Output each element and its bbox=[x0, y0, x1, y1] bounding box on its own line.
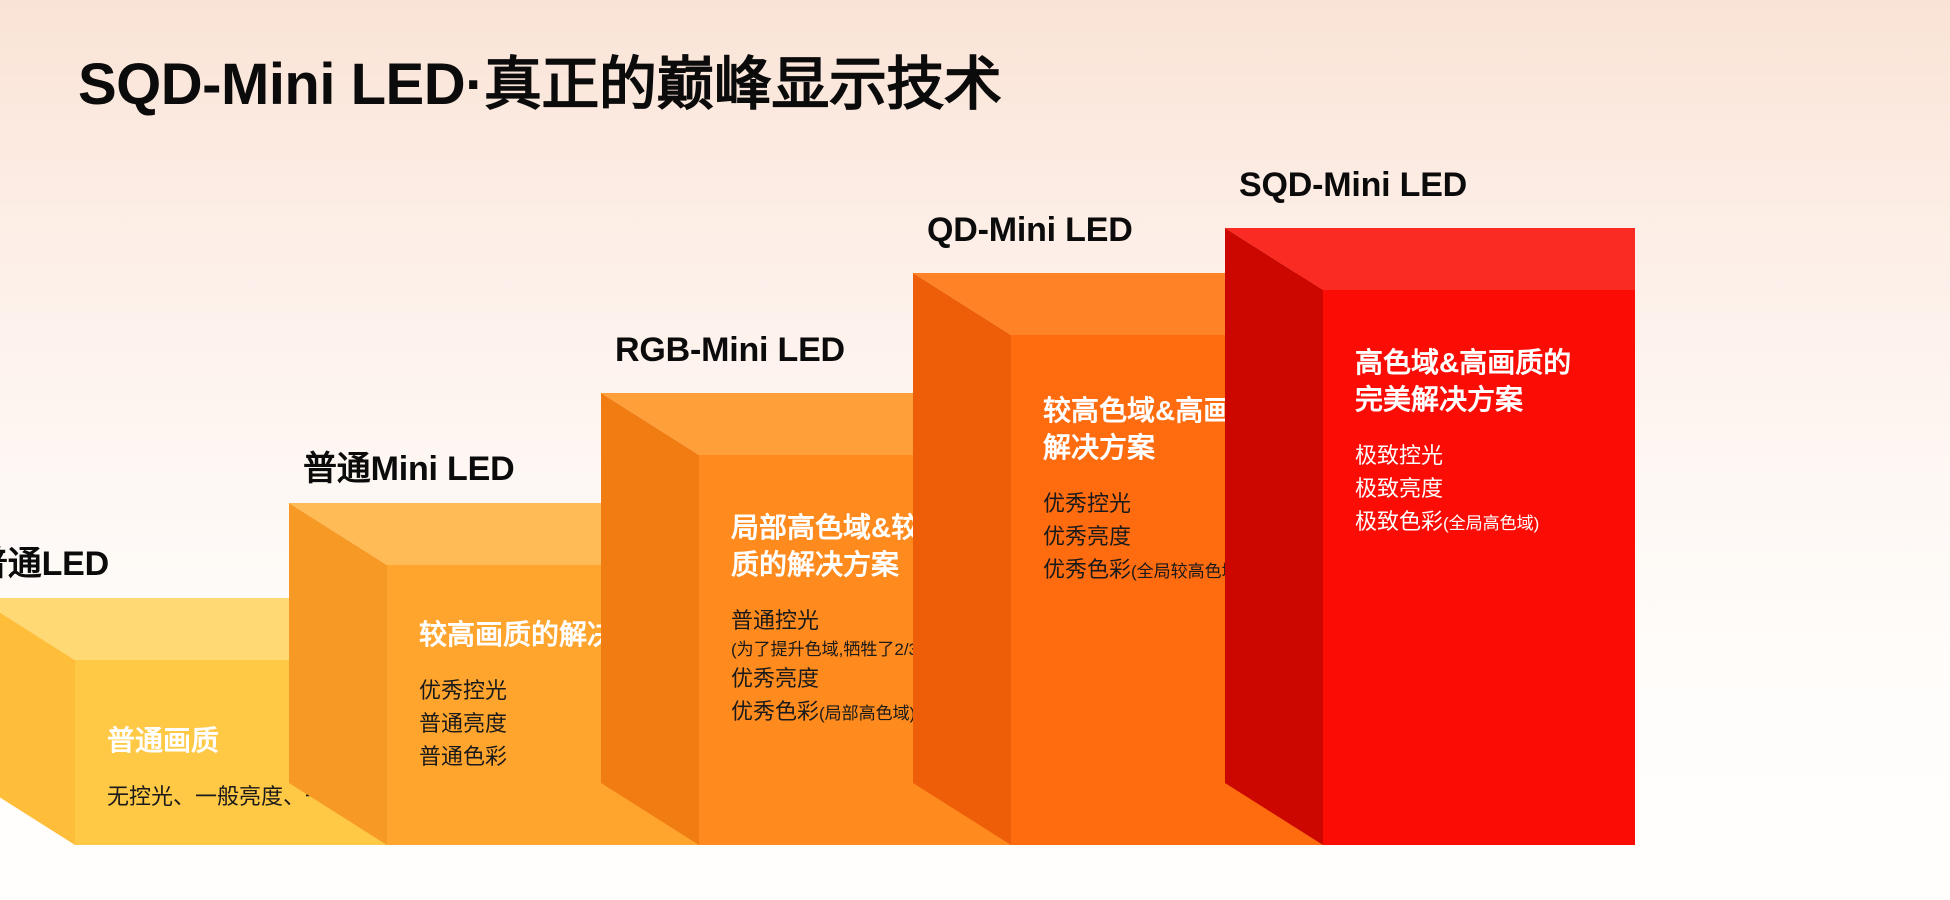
step-side-face-5 bbox=[1225, 228, 1323, 845]
step-detail-5: 极致控光极致亮度极致色彩(全局高色域) bbox=[1355, 439, 1635, 538]
infographic-canvas: SQD-Mini LED·真正的巅峰显示技术 普通画质无控光、一般亮度、一般色彩… bbox=[0, 0, 1950, 900]
step-side-face-4 bbox=[913, 273, 1011, 845]
step-detail-note: (全局高色域) bbox=[1443, 514, 1539, 533]
step-detail-line: 极致控光 bbox=[1355, 439, 1635, 472]
step-label-2: 普通Mini LED bbox=[303, 441, 514, 490]
step-detail-note: (局部高色域) bbox=[819, 704, 915, 723]
step-label-4: QD-Mini LED bbox=[927, 211, 1133, 250]
step-label-3: RGB-Mini LED bbox=[615, 331, 845, 370]
step-content-5: 高色域&高画质的 完美解决方案极致控光极致亮度极致色彩(全局高色域) bbox=[1355, 345, 1635, 538]
step-heading-5: 高色域&高画质的 完美解决方案 bbox=[1355, 345, 1635, 419]
step-detail-line: 极致色彩(全局高色域) bbox=[1355, 505, 1635, 538]
step-side-face-3 bbox=[601, 393, 699, 845]
step-label-5: SQD-Mini LED bbox=[1239, 166, 1467, 205]
step-detail-line: 极致亮度 bbox=[1355, 472, 1635, 505]
staircase-chart: 普通画质无控光、一般亮度、一般色彩普通LED较高画质的解决方案优秀控光普通亮度普… bbox=[0, 0, 1950, 900]
step-label-1: 普通LED bbox=[0, 536, 109, 585]
step-block-5: 高色域&高画质的 完美解决方案极致控光极致亮度极致色彩(全局高色域) bbox=[1225, 228, 1635, 845]
